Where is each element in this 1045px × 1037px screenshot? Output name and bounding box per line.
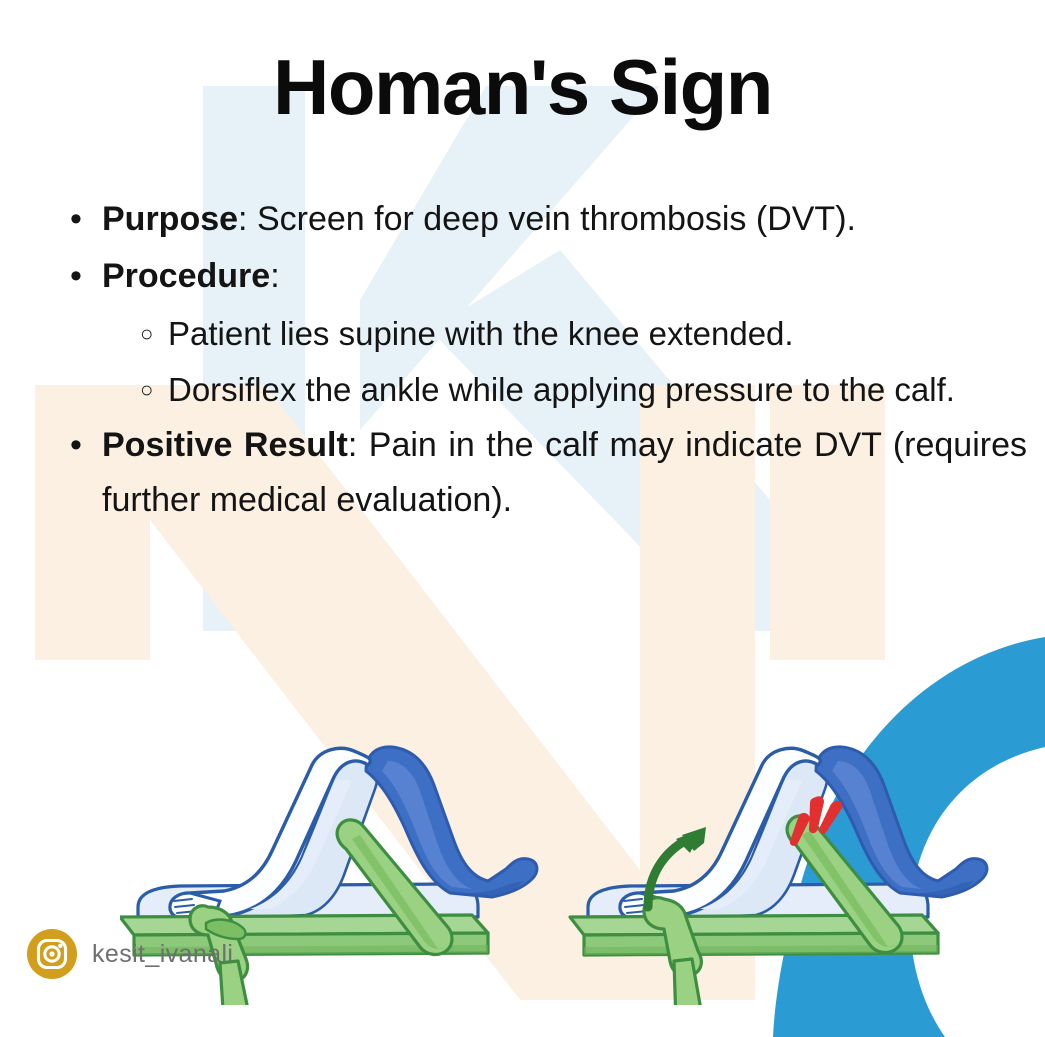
bullet-positive-result-text: Positive Result: Pain in the calf may in… [102, 418, 1027, 528]
bullet-procedure-text: Procedure: [102, 249, 1027, 304]
bullet-positive-result: • Positive Result: Pain in the calf may … [62, 418, 1027, 528]
bullet-marker: • [62, 249, 102, 303]
bullet-purpose: • Purpose: Screen for deep vein thrombos… [62, 192, 1027, 247]
body-content: • Purpose: Screen for deep vein thrombos… [62, 192, 1027, 530]
sub-bullet-supine: ○ Patient lies supine with the knee exte… [130, 306, 1027, 362]
bullet-procedure-separator: : [270, 257, 279, 295]
sub-bullet-dorsiflex-text: Dorsiflex the ankle while applying press… [168, 362, 1027, 418]
infographic-page: Homan's Sign • Purpose: Screen for deep … [0, 0, 1045, 1037]
procedure-sub-list: ○ Patient lies supine with the knee exte… [130, 306, 1027, 418]
bullet-marker: • [62, 192, 102, 246]
sub-bullet-marker: ○ [130, 362, 168, 418]
sub-bullet-dorsiflex: ○ Dorsiflex the ankle while applying pre… [130, 362, 1027, 418]
sub-bullet-marker: ○ [130, 306, 168, 362]
bullet-purpose-text: Purpose: Screen for deep vein thrombosis… [102, 192, 1027, 247]
bullet-purpose-body: Screen for deep vein thrombosis (DVT). [257, 200, 856, 238]
illustration-panel-right [570, 747, 987, 1005]
bullet-purpose-separator: : [238, 200, 257, 238]
bullet-positive-result-separator: : [348, 426, 369, 464]
homans-sign-illustration [120, 675, 1020, 1005]
instagram-username: kesit_ivanali [92, 940, 233, 969]
page-title: Homan's Sign [0, 44, 1045, 130]
instagram-handle[interactable]: kesit_ivanali [26, 928, 233, 980]
bullet-procedure-label: Procedure [102, 257, 270, 295]
bullet-positive-result-label: Positive Result [102, 426, 348, 464]
bullet-marker: • [62, 418, 102, 472]
bullet-purpose-label: Purpose [102, 200, 238, 238]
instagram-icon[interactable] [26, 928, 78, 980]
bullet-procedure: • Procedure: [62, 249, 1027, 304]
sub-bullet-supine-text: Patient lies supine with the knee extend… [168, 306, 1027, 362]
